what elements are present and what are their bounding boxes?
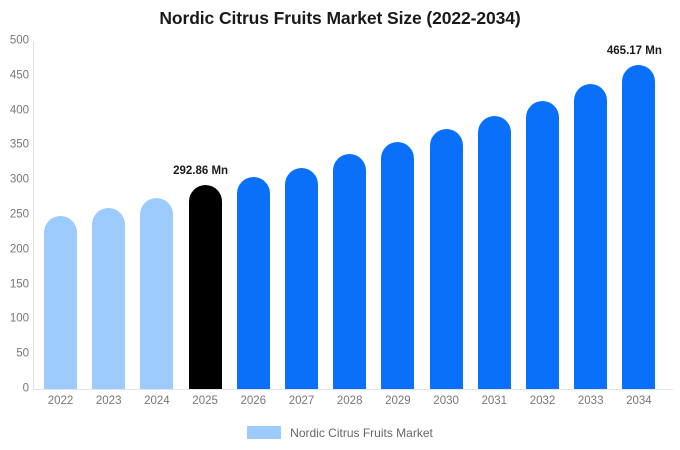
bar-2027[interactable] xyxy=(285,168,318,389)
bar-2029[interactable] xyxy=(381,142,414,389)
bar-2028[interactable] xyxy=(333,154,366,389)
bars-container xyxy=(34,41,674,389)
legend-item-label: Nordic Citrus Fruits Market xyxy=(290,427,433,439)
y-axis-tick-label: 0 xyxy=(3,383,29,395)
bar-2034[interactable] xyxy=(622,65,655,389)
y-axis-tick-label: 250 xyxy=(3,209,29,221)
x-axis-tick-label: 2034 xyxy=(609,396,669,408)
y-axis-tick-label: 350 xyxy=(3,140,29,152)
bar-2023[interactable] xyxy=(92,208,125,389)
bar-2025[interactable] xyxy=(189,185,222,389)
bar-2024[interactable] xyxy=(140,198,173,389)
x-axis-line xyxy=(33,389,673,390)
bar-2030[interactable] xyxy=(430,129,463,389)
y-axis-tick-label: 100 xyxy=(3,314,29,326)
bar-2031[interactable] xyxy=(478,116,511,389)
bar-chart: Nordic Citrus Fruits Market Size (2022-2… xyxy=(0,0,680,450)
y-axis-tick-label: 450 xyxy=(3,70,29,82)
bar-2033[interactable] xyxy=(574,84,607,389)
legend-swatch-icon xyxy=(247,426,281,439)
y-axis-tick-label: 50 xyxy=(3,348,29,360)
bar-2032[interactable] xyxy=(526,101,559,389)
bar-2026[interactable] xyxy=(237,177,270,389)
y-axis-tick-label: 500 xyxy=(3,35,29,47)
y-axis-tick-label: 150 xyxy=(3,279,29,291)
y-axis: 500450400350300250200150100500 xyxy=(0,0,29,450)
y-axis-tick-label: 300 xyxy=(3,174,29,186)
bar-2022[interactable] xyxy=(44,216,77,389)
y-axis-tick-label: 200 xyxy=(3,244,29,256)
value-label-2025: 292.86 Mn xyxy=(173,166,228,178)
chart-title: Nordic Citrus Fruits Market Size (2022-2… xyxy=(0,8,680,29)
value-label-2034: 465.17 Mn xyxy=(607,46,662,58)
chart-legend[interactable]: Nordic Citrus Fruits Market xyxy=(0,426,680,439)
y-axis-tick-label: 400 xyxy=(3,105,29,117)
